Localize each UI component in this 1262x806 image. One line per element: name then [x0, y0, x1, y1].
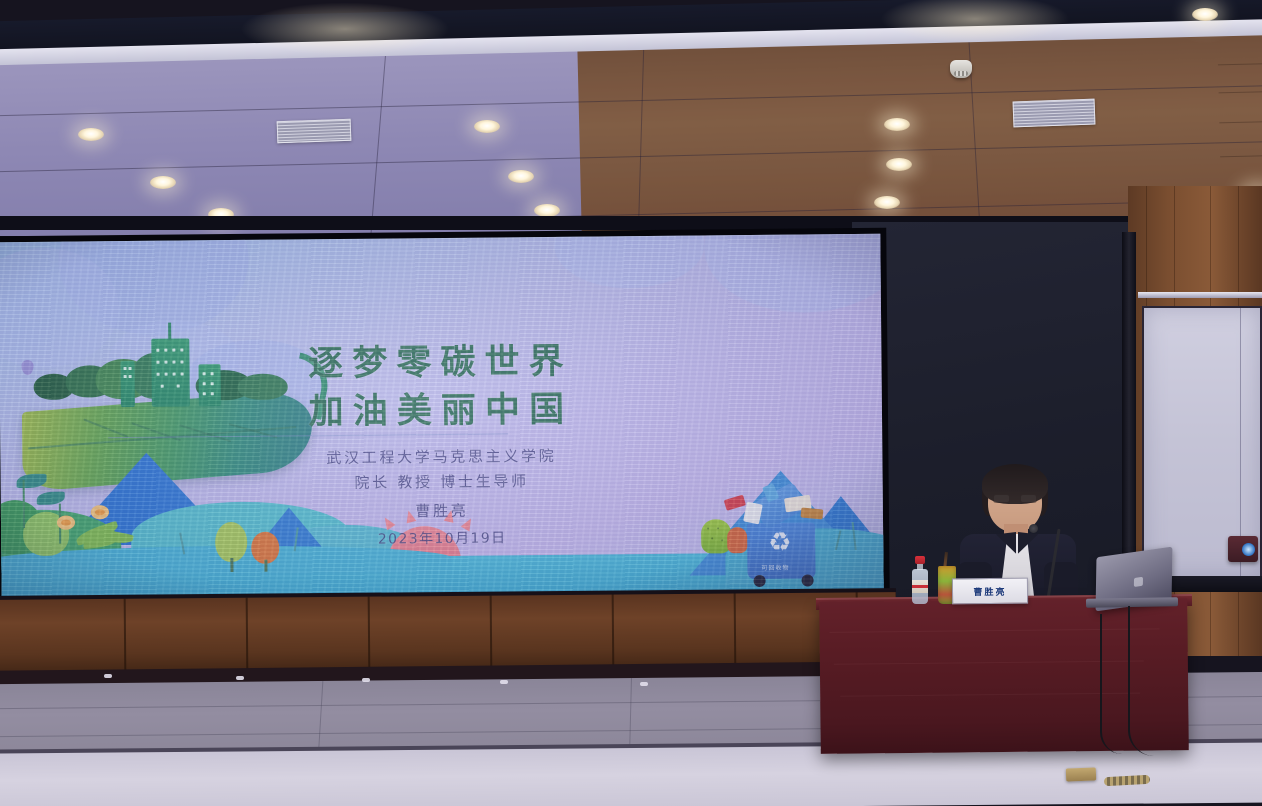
water-bottle[interactable] — [912, 556, 928, 604]
stage-marker — [500, 680, 508, 684]
board-rail — [1138, 292, 1262, 298]
stage-marker — [640, 682, 648, 686]
air-vent-grille — [277, 119, 352, 144]
downlight-icon — [508, 170, 534, 183]
name-placard-text: 曹胜亮 — [973, 584, 1006, 597]
floor-power-box — [1066, 767, 1096, 781]
cable — [1128, 606, 1154, 756]
led-display: 可回收物 逐梦零碳世界 加油美丽中国 武汉工程大学马克思主义学 — [0, 228, 890, 605]
bottle-cap[interactable] — [915, 556, 925, 564]
stage-marker — [104, 674, 112, 678]
smoke-detector-icon — [950, 60, 972, 78]
led-headline-line2: 加油美丽中国 — [0, 378, 882, 437]
cable — [1100, 614, 1122, 754]
cloud-shape — [554, 234, 705, 289]
laptop-logo-icon — [1134, 577, 1143, 587]
downlight-icon — [474, 120, 500, 133]
stage-marker — [236, 676, 244, 680]
bin-label: 可回收物 — [761, 563, 789, 572]
bin-wheel — [802, 574, 814, 586]
ceiling-glow — [240, 2, 450, 56]
downlight-icon — [1192, 8, 1218, 21]
wall-mounted-device — [1228, 536, 1258, 562]
downlight-icon — [884, 118, 910, 131]
bin-wheel — [754, 575, 766, 587]
cloud-shape — [704, 234, 884, 314]
microphone-head — [1029, 524, 1038, 533]
stage-marker — [362, 678, 370, 682]
downlight-icon — [886, 158, 912, 171]
glasses — [993, 494, 1037, 503]
ceiling — [0, 0, 1262, 236]
downlight-icon — [874, 196, 900, 209]
lecture-hall-scene: 可回收物 逐梦零碳世界 加油美丽中国 武汉工程大学马克思主义学 — [0, 0, 1262, 806]
downlight-icon — [78, 128, 104, 141]
name-placard: 曹胜亮 — [952, 578, 1028, 605]
led-screen-content: 可回收物 逐梦零碳世界 加油美丽中国 武汉工程大学马克思主义学 — [0, 234, 884, 598]
downlight-icon — [150, 176, 176, 189]
air-vent-grille — [1013, 99, 1096, 128]
